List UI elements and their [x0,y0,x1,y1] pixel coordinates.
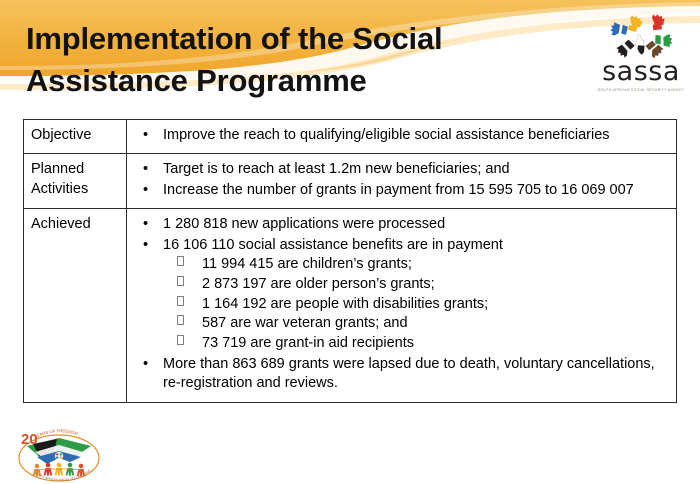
bullet-list: • Target is to reach at least 1.2m new b… [134,160,670,200]
list-item: • 16 106 110 social assistance benefits … [134,236,670,354]
list-item: • Improve the reach to qualifying/eligib… [134,126,670,145]
sassa-logo: sassa SOUTH AFRICAN SOCIAL SECURITY AGEN… [592,14,690,102]
list-item: 1 164 192 are people with disabilities g… [168,295,670,315]
square-bullet-icon [177,296,184,306]
bullet-dot-icon: • [143,181,148,200]
bullet-dot-icon: • [143,215,148,234]
square-bullet-icon [177,256,184,266]
slide-header: Implementation of the Social Assistance … [0,0,700,112]
row-label-planned-activities: Planned Activities [24,154,127,209]
list-item: • More than 863 689 grants were lapsed d… [134,355,670,394]
row-label-achieved: Achieved [24,209,127,402]
nested-list-wrapper: 11 994 415 are children’s grants; 2 873 … [163,255,670,354]
list-item: 587 are war veteran grants; and [168,314,670,334]
bullet-dot-icon: • [143,236,148,255]
row-body-objective: • Improve the reach to qualifying/eligib… [127,120,677,154]
list-item-text: 587 are war veteran grants; and [202,315,408,331]
bullet-dot-icon: • [143,160,148,179]
square-bullet-icon [177,315,184,325]
list-item-text: 11 994 415 are children’s grants; [202,256,412,272]
table-row: Planned Activities • Target is to reach … [24,154,677,209]
emblem-number: 20 [21,431,38,448]
table-row: Achieved • 1 280 818 new applications we… [24,209,677,402]
bullet-list: • 1 280 818 new applications were proces… [134,215,670,393]
page-title: Implementation of the Social Assistance … [26,18,586,101]
list-item-text: 1 280 818 new applications were processe… [163,216,445,232]
list-item-text: 1 164 192 are people with disabilities g… [202,296,488,312]
emblem-center-mark [55,452,63,460]
list-item-text: More than 863 689 grants were lapsed due… [163,356,655,391]
list-item: 2 873 197 are older person’s grants; [168,275,670,295]
row-body-planned-activities: • Target is to reach at least 1.2m new b… [127,154,677,209]
sub-bullet-list: 11 994 415 are children’s grants; 2 873 … [168,255,670,354]
list-item-text: Improve the reach to qualifying/eligible… [163,127,610,143]
list-item-text: Target is to reach at least 1.2m new ben… [163,161,510,177]
list-item: • Target is to reach at least 1.2m new b… [134,160,670,179]
list-item-text: 73 719 are grant-in aid recipients [202,335,414,351]
list-item-text: Increase the number of grants in payment… [163,182,634,198]
row-label-objective: Objective [24,120,127,154]
list-item: 73 719 are grant-in aid recipients [168,334,670,354]
bullet-list: • Improve the reach to qualifying/eligib… [134,126,670,145]
twenty-years-of-freedom-emblem: 20 YEARS OF FREEDOM SOUTH AFRICAN SOC [13,424,105,484]
bullet-dot-icon: • [143,355,148,374]
square-bullet-icon [177,335,184,345]
square-bullet-icon [177,276,184,286]
row-body-achieved: • 1 280 818 new applications were proces… [127,209,677,402]
table-row: Objective • Improve the reach to qualify… [24,120,677,154]
sassa-hands-icon [610,14,672,61]
list-item-text: 16 106 110 social assistance benefits ar… [163,237,503,253]
implementation-table: Objective • Improve the reach to qualify… [23,119,677,403]
bullet-dot-icon: • [143,126,148,145]
sassa-tagline: SOUTH AFRICAN SOCIAL SECURITY AGENCY [592,88,690,92]
list-item: 11 994 415 are children’s grants; [168,255,670,275]
list-item: • 1 280 818 new applications were proces… [134,215,670,234]
list-item-text: 2 873 197 are older person’s grants; [202,276,435,292]
list-item: • Increase the number of grants in payme… [134,181,670,200]
sassa-wordmark: sassa [592,58,690,85]
